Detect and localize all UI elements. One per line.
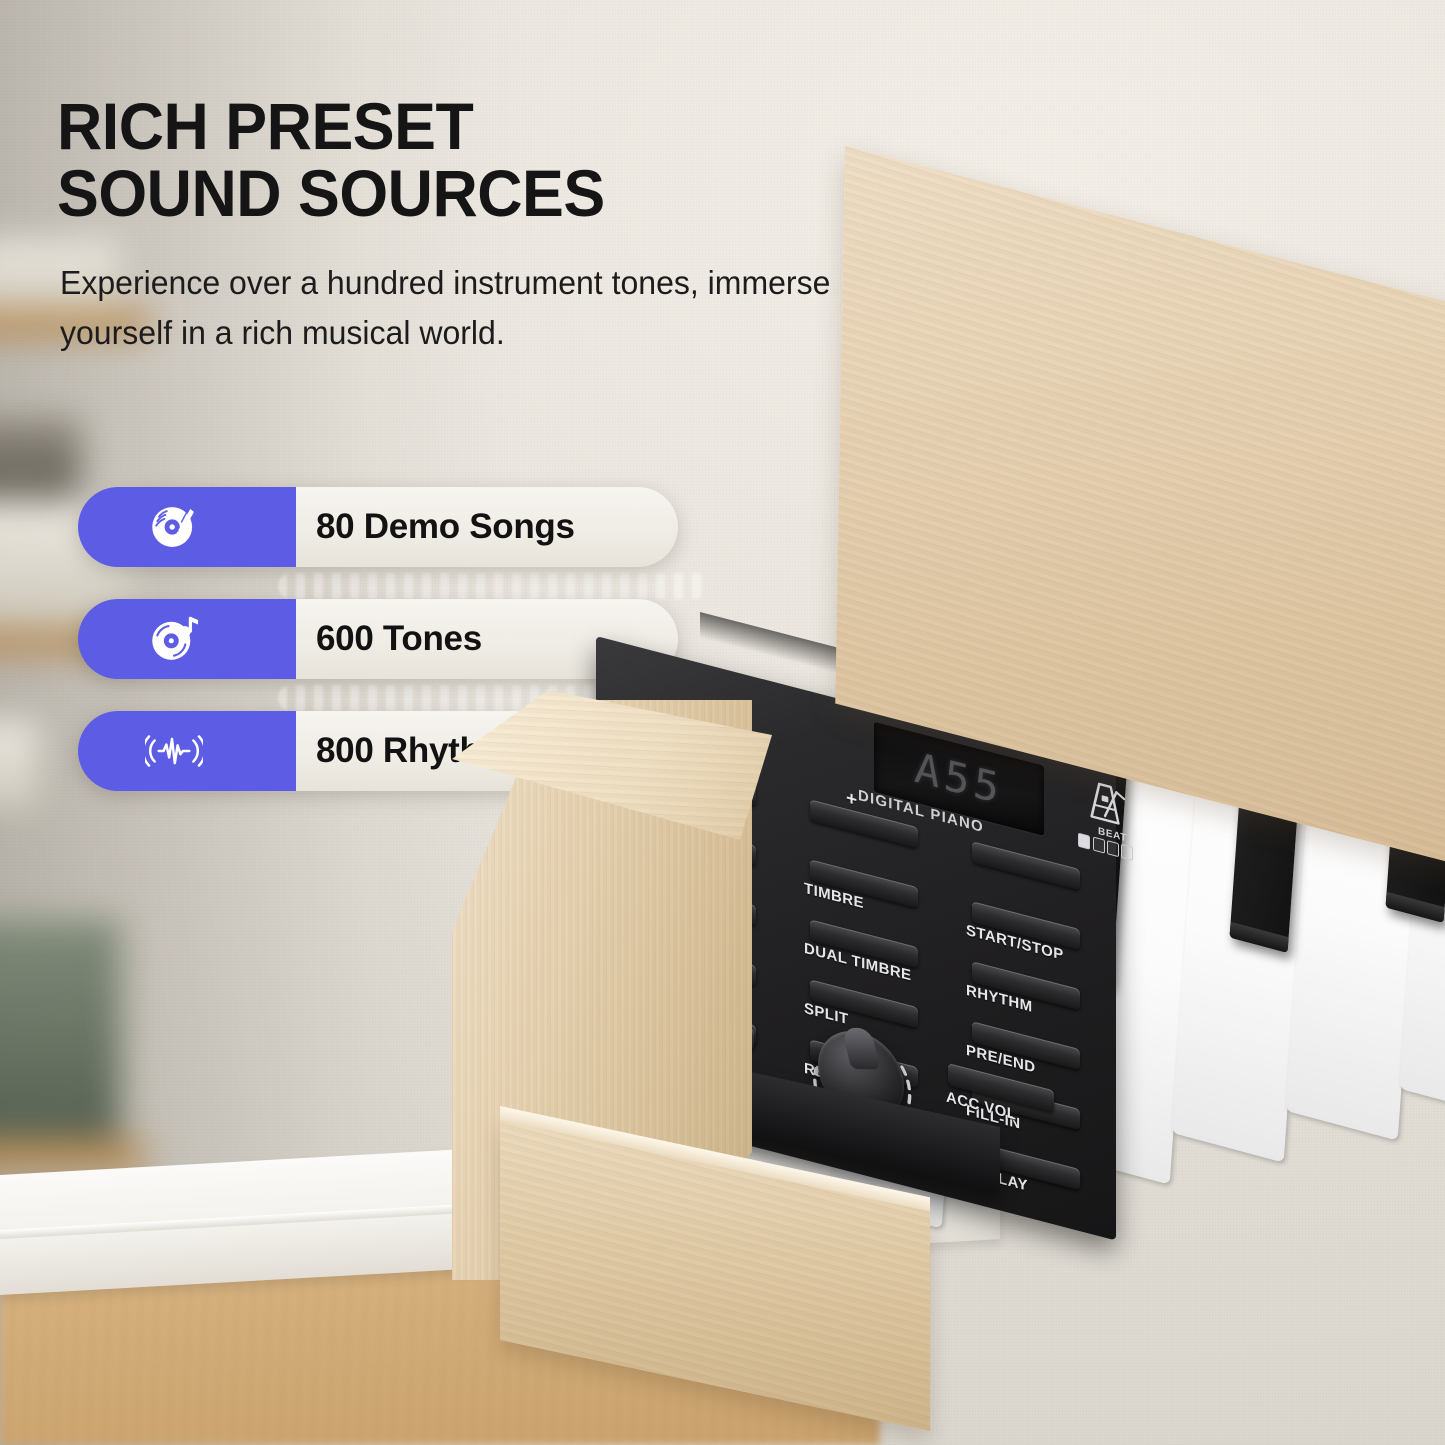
headline-line-1: RICH PRESET	[57, 89, 473, 163]
motion-trail	[278, 573, 708, 599]
plus-button-label: +	[846, 788, 858, 813]
badge-label-demo-songs: 80 Demo Songs	[268, 487, 678, 567]
feature-badge-demo-songs[interactable]: 80 Demo Songs	[78, 487, 678, 567]
vinyl-record-music-note-icon	[78, 599, 270, 679]
vinyl-record-tonearm-icon	[78, 487, 270, 567]
page-title: RICH PRESET SOUND SOURCES	[57, 93, 798, 228]
product-feature-image: RICH PRESET SOUND SOURCES Experience ove…	[0, 0, 1445, 1445]
feature-badge-tones[interactable]: 600 Tones	[78, 599, 678, 679]
subtitle: Experience over a hundred instrument ton…	[60, 258, 855, 358]
led-display-value: A55	[913, 747, 1005, 811]
headline-line-2: SOUND SOURCES	[57, 160, 798, 227]
sound-wave-icon	[78, 711, 270, 791]
